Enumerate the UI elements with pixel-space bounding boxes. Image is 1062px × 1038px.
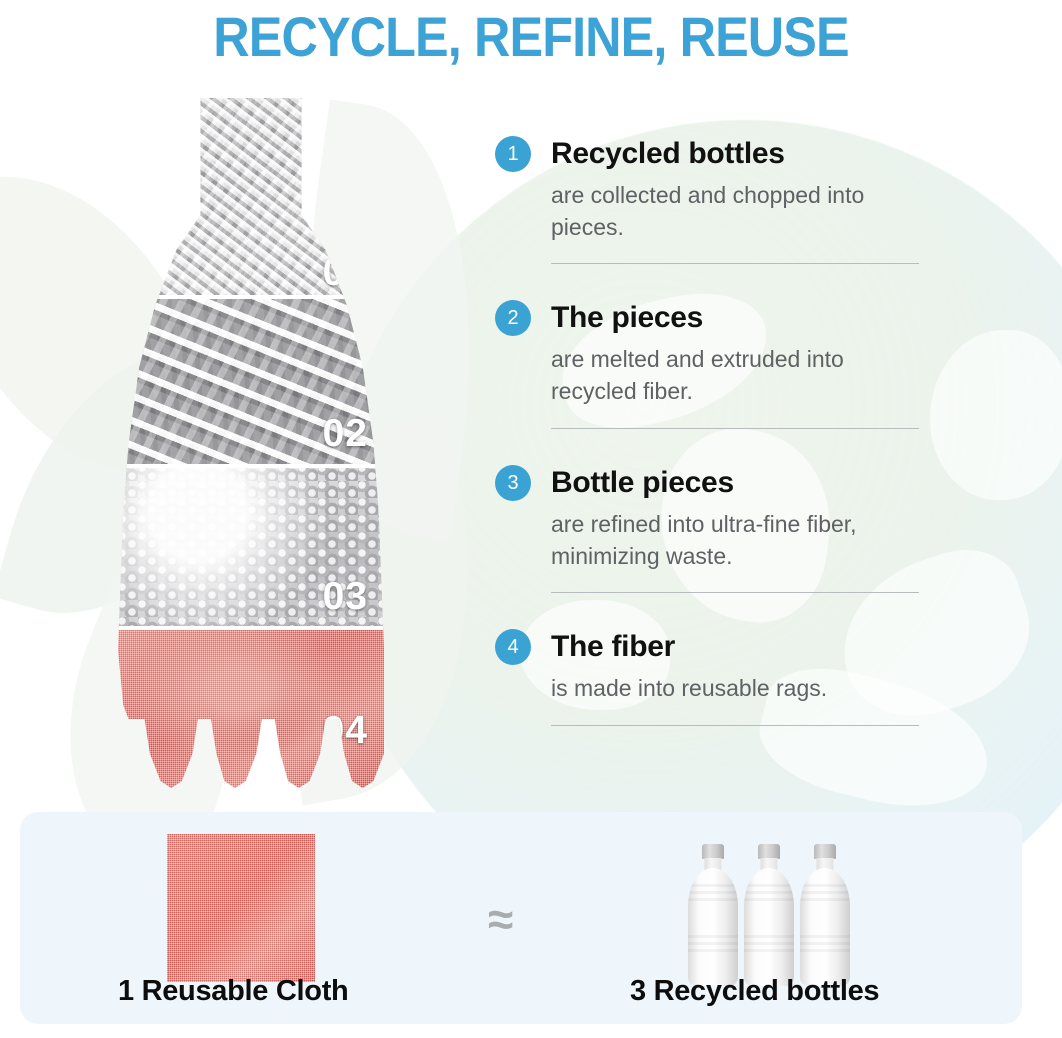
step-badge-2: 2 bbox=[495, 300, 531, 336]
step-title-4: The fiber bbox=[551, 630, 675, 664]
approximately-equal-icon: ≈ bbox=[488, 896, 513, 942]
bottle-silhouette: 01 02 03 04 bbox=[118, 98, 384, 788]
step-divider bbox=[551, 263, 919, 264]
step-badge-3: 3 bbox=[495, 465, 531, 501]
step-item-1: 1 Recycled bottles are collected and cho… bbox=[495, 132, 935, 278]
bottle-cap-icon bbox=[758, 844, 780, 859]
bottle-body bbox=[688, 868, 738, 986]
page-title: RECYCLE, REFINE, REUSE bbox=[53, 4, 1009, 69]
step-item-3: 3 Bottle pieces are refined into ultra-f… bbox=[495, 461, 935, 607]
step-title-3: Bottle pieces bbox=[551, 466, 734, 500]
bottle-segment-04 bbox=[118, 626, 384, 788]
step-header: 1 Recycled bottles bbox=[495, 132, 935, 176]
step-badge-1: 1 bbox=[495, 136, 531, 172]
bottle-icon bbox=[744, 844, 794, 986]
segment-divider bbox=[113, 626, 390, 630]
bottle-icon bbox=[800, 844, 850, 986]
step-body-2: are melted and extruded into recycled fi… bbox=[551, 344, 931, 407]
comparison-left-label: 1 Reusable Cloth bbox=[118, 975, 348, 1008]
comparison-panel-inner: ≈ 1 Reusable Cloth bbox=[20, 812, 1022, 1024]
comparison-panel: ≈ 1 Reusable Cloth bbox=[20, 812, 1022, 1024]
bottle-cap-icon bbox=[702, 844, 724, 859]
bottle-cap-icon bbox=[814, 844, 836, 859]
segment-number-03: 03 bbox=[323, 575, 368, 619]
bottle-icon bbox=[688, 844, 738, 986]
step-body-3: are refined into ultra-fine fiber, minim… bbox=[551, 509, 931, 572]
step-item-4: 4 The fiber is made into reusable rags. bbox=[495, 625, 935, 740]
step-divider bbox=[551, 592, 919, 593]
step-divider bbox=[551, 428, 919, 429]
bottle-body bbox=[800, 868, 850, 986]
step-item-2: 2 The pieces are melted and extruded int… bbox=[495, 296, 935, 442]
bottles-group-image bbox=[688, 826, 858, 986]
steps-list: 1 Recycled bottles are collected and cho… bbox=[495, 132, 935, 740]
infographic-page: RECYCLE, REFINE, REUSE 01 02 03 04 1 Rec… bbox=[0, 0, 1062, 1038]
segment-number-02: 02 bbox=[323, 412, 368, 456]
segment-number-04: 04 bbox=[323, 709, 368, 753]
step-body-1: are collected and chopped into pieces. bbox=[551, 180, 931, 243]
step-header: 4 The fiber bbox=[495, 625, 935, 669]
segment-number-01: 01 bbox=[323, 251, 368, 295]
segment-divider bbox=[113, 464, 390, 468]
step-header: 3 Bottle pieces bbox=[495, 461, 935, 505]
bottle-diagram: 01 02 03 04 bbox=[118, 98, 384, 788]
step-badge-4: 4 bbox=[495, 629, 531, 665]
continent-shape bbox=[930, 330, 1062, 500]
bottle-body bbox=[744, 868, 794, 986]
step-title-1: Recycled bottles bbox=[551, 137, 785, 171]
comparison-right-label: 3 Recycled bottles bbox=[630, 975, 879, 1008]
step-title-2: The pieces bbox=[551, 301, 703, 335]
segment-divider bbox=[113, 295, 390, 299]
step-divider bbox=[551, 725, 919, 726]
step-body-4: is made into reusable rags. bbox=[551, 673, 931, 705]
bottle-segment-01 bbox=[118, 98, 384, 295]
step-header: 2 The pieces bbox=[495, 296, 935, 340]
cloth-swatch-image bbox=[167, 834, 315, 982]
